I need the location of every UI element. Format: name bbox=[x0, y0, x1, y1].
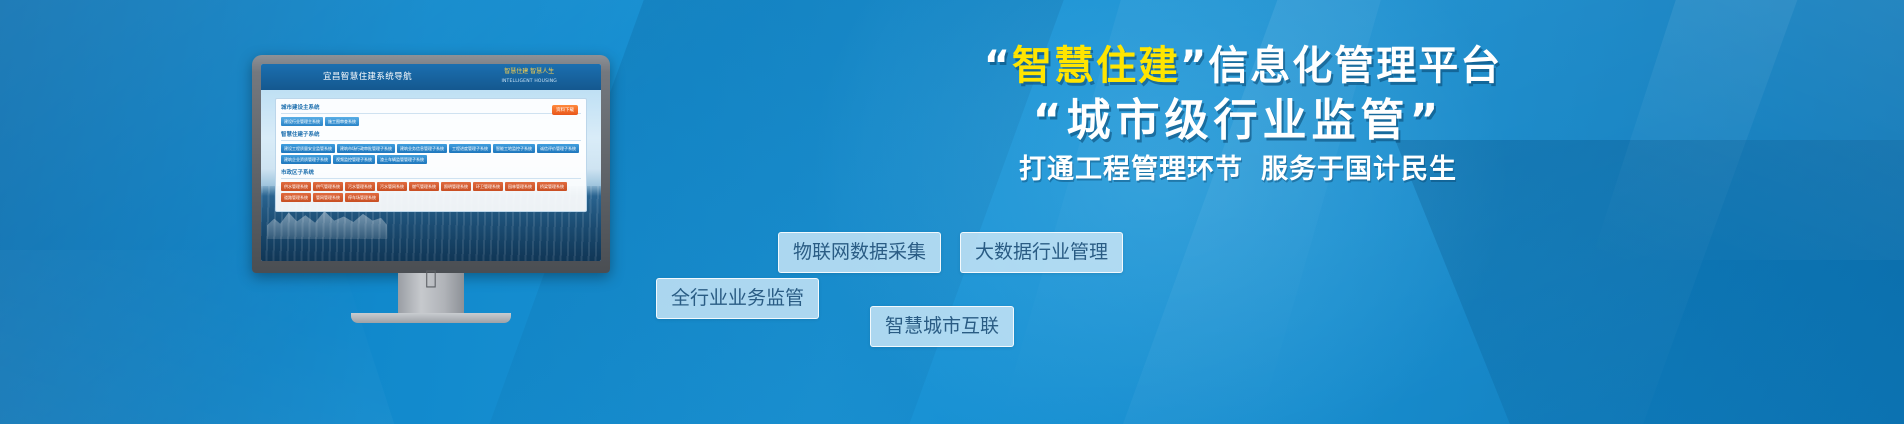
nav-chip[interactable]: 污水管网系统 bbox=[377, 182, 407, 191]
nav-chip[interactable]: 视频监控管理子系统 bbox=[333, 155, 375, 164]
section-heading-municipal: 市政区子系统 bbox=[281, 168, 581, 179]
headline-line-1-rest: 信息化管理平台 bbox=[1208, 43, 1502, 89]
nav-chip[interactable]: 燃气管理系统 bbox=[409, 182, 439, 191]
nav-chip[interactable]: 建筑企业资质管理子系统 bbox=[281, 155, 331, 164]
nav-chip[interactable]: 供气管理系统 bbox=[313, 182, 343, 191]
nav-chip[interactable]: 智能工地监控子系统 bbox=[493, 144, 535, 153]
tag-iot-data-collection[interactable]: 物联网数据采集 bbox=[778, 232, 941, 273]
nav-chip[interactable]: 污水管理系统 bbox=[345, 182, 375, 191]
headline-block: “智慧住建”信息化管理平台 “城市级行业监管” 打通工程管理环节服务于国计民生 bbox=[648, 40, 1828, 190]
section-items-municipal: 供水管理系统 供气管理系统 污水管理系统 污水管网系统 燃气管理系统 照明管理系… bbox=[281, 182, 581, 202]
nav-chip[interactable]: 停车场管理系统 bbox=[345, 193, 379, 202]
monitor-stand-base bbox=[351, 313, 511, 323]
nav-chip[interactable]: 园林管理系统 bbox=[505, 182, 535, 191]
screen-nav-panel: 资料下载 城市建设主系统 建设行业管理主系统 施工图审查系统 智慧住建子系统 建… bbox=[275, 98, 587, 212]
nav-chip[interactable]: 照明管理系统 bbox=[441, 182, 471, 191]
headline-line-2: “城市级行业监管” bbox=[648, 92, 1828, 150]
nav-chip[interactable]: 建设行业管理主系统 bbox=[281, 117, 323, 126]
section-heading-city: 城市建设主系统 bbox=[281, 103, 581, 114]
promo-banner: 宜昌智慧住建系统导航 智慧住建 智慧人生 INTELLIGENT HOUSING… bbox=[0, 0, 1904, 424]
section-items-smart: 建设工程质量安全监管系统 建筑市场行政审批管理子系统 建筑业务信息管理子系统 工… bbox=[281, 144, 581, 164]
section-items-city: 建设行业管理主系统 施工图审查系统 bbox=[281, 117, 581, 126]
nav-chip[interactable]: 渣土车辆监管管理子系统 bbox=[377, 155, 427, 164]
nav-chip[interactable]: 桥梁管理系统 bbox=[537, 182, 567, 191]
nav-chip[interactable]: 建设工程质量安全监管系统 bbox=[281, 144, 335, 153]
feature-tag-group: 物联网数据采集 大数据行业管理 全行业业务监管 智慧城市互联 bbox=[648, 232, 1828, 352]
headline-line-3-part-2: 服务于国计民生 bbox=[1261, 154, 1457, 185]
monitor-bezel: 宜昌智慧住建系统导航 智慧住建 智慧人生 INTELLIGENT HOUSING… bbox=[252, 55, 610, 273]
nav-chip[interactable]: 工程进度管理子系统 bbox=[449, 144, 491, 153]
nav-chip[interactable]: 建筑市场行政审批管理子系统 bbox=[337, 144, 395, 153]
tag-smart-city-interconnect[interactable]: 智慧城市互联 bbox=[870, 306, 1014, 347]
screen-header-bar: 宜昌智慧住建系统导航 智慧住建 智慧人生 INTELLIGENT HOUSING bbox=[261, 64, 601, 90]
nav-chip[interactable]: 诚信评价管理子系统 bbox=[537, 144, 579, 153]
screen-logo-line1: 智慧住建 智慧人生 bbox=[504, 68, 554, 75]
screen-title: 宜昌智慧住建系统导航 bbox=[323, 70, 412, 82]
nav-chip[interactable]: 供水管理系统 bbox=[281, 182, 311, 191]
nav-chip[interactable]: 施工图审查系统 bbox=[325, 117, 359, 126]
quote-open: “ bbox=[984, 43, 1012, 89]
screen-body: 资料下载 城市建设主系统 建设行业管理主系统 施工图审查系统 智慧住建子系统 建… bbox=[261, 90, 601, 261]
monitor-mockup: 宜昌智慧住建系统导航 智慧住建 智慧人生 INTELLIGENT HOUSING… bbox=[252, 55, 610, 323]
nav-chip[interactable]: 建筑业务信息管理子系统 bbox=[397, 144, 447, 153]
nav-chip[interactable]: 道路管理系统 bbox=[281, 193, 311, 202]
screen-logo-line2: INTELLIGENT HOUSING bbox=[501, 79, 557, 84]
monitor-screen: 宜昌智慧住建系统导航 智慧住建 智慧人生 INTELLIGENT HOUSING… bbox=[261, 64, 601, 261]
section-heading-smart: 智慧住建子系统 bbox=[281, 130, 581, 141]
nav-chip[interactable]: 环卫管理系统 bbox=[473, 182, 503, 191]
headline-line-1: “智慧住建”信息化管理平台 bbox=[648, 40, 1828, 92]
tag-all-industry-supervision[interactable]: 全行业业务监管 bbox=[656, 278, 819, 319]
download-button[interactable]: 资料下载 bbox=[552, 105, 578, 115]
headline-highlight: 智慧住建 bbox=[1012, 43, 1180, 89]
headline-line-3-part-1: 打通工程管理环节 bbox=[1019, 154, 1243, 185]
tag-bigdata-industry-management[interactable]: 大数据行业管理 bbox=[960, 232, 1123, 273]
screen-logo: 智慧住建 智慧人生 INTELLIGENT HOUSING bbox=[501, 67, 557, 86]
headline-line-3: 打通工程管理环节服务于国计民生 bbox=[648, 150, 1828, 190]
apple-logo-icon:  bbox=[425, 269, 436, 288]
nav-chip[interactable]: 管网管理系统 bbox=[313, 193, 343, 202]
quote-close: ” bbox=[1180, 43, 1208, 89]
